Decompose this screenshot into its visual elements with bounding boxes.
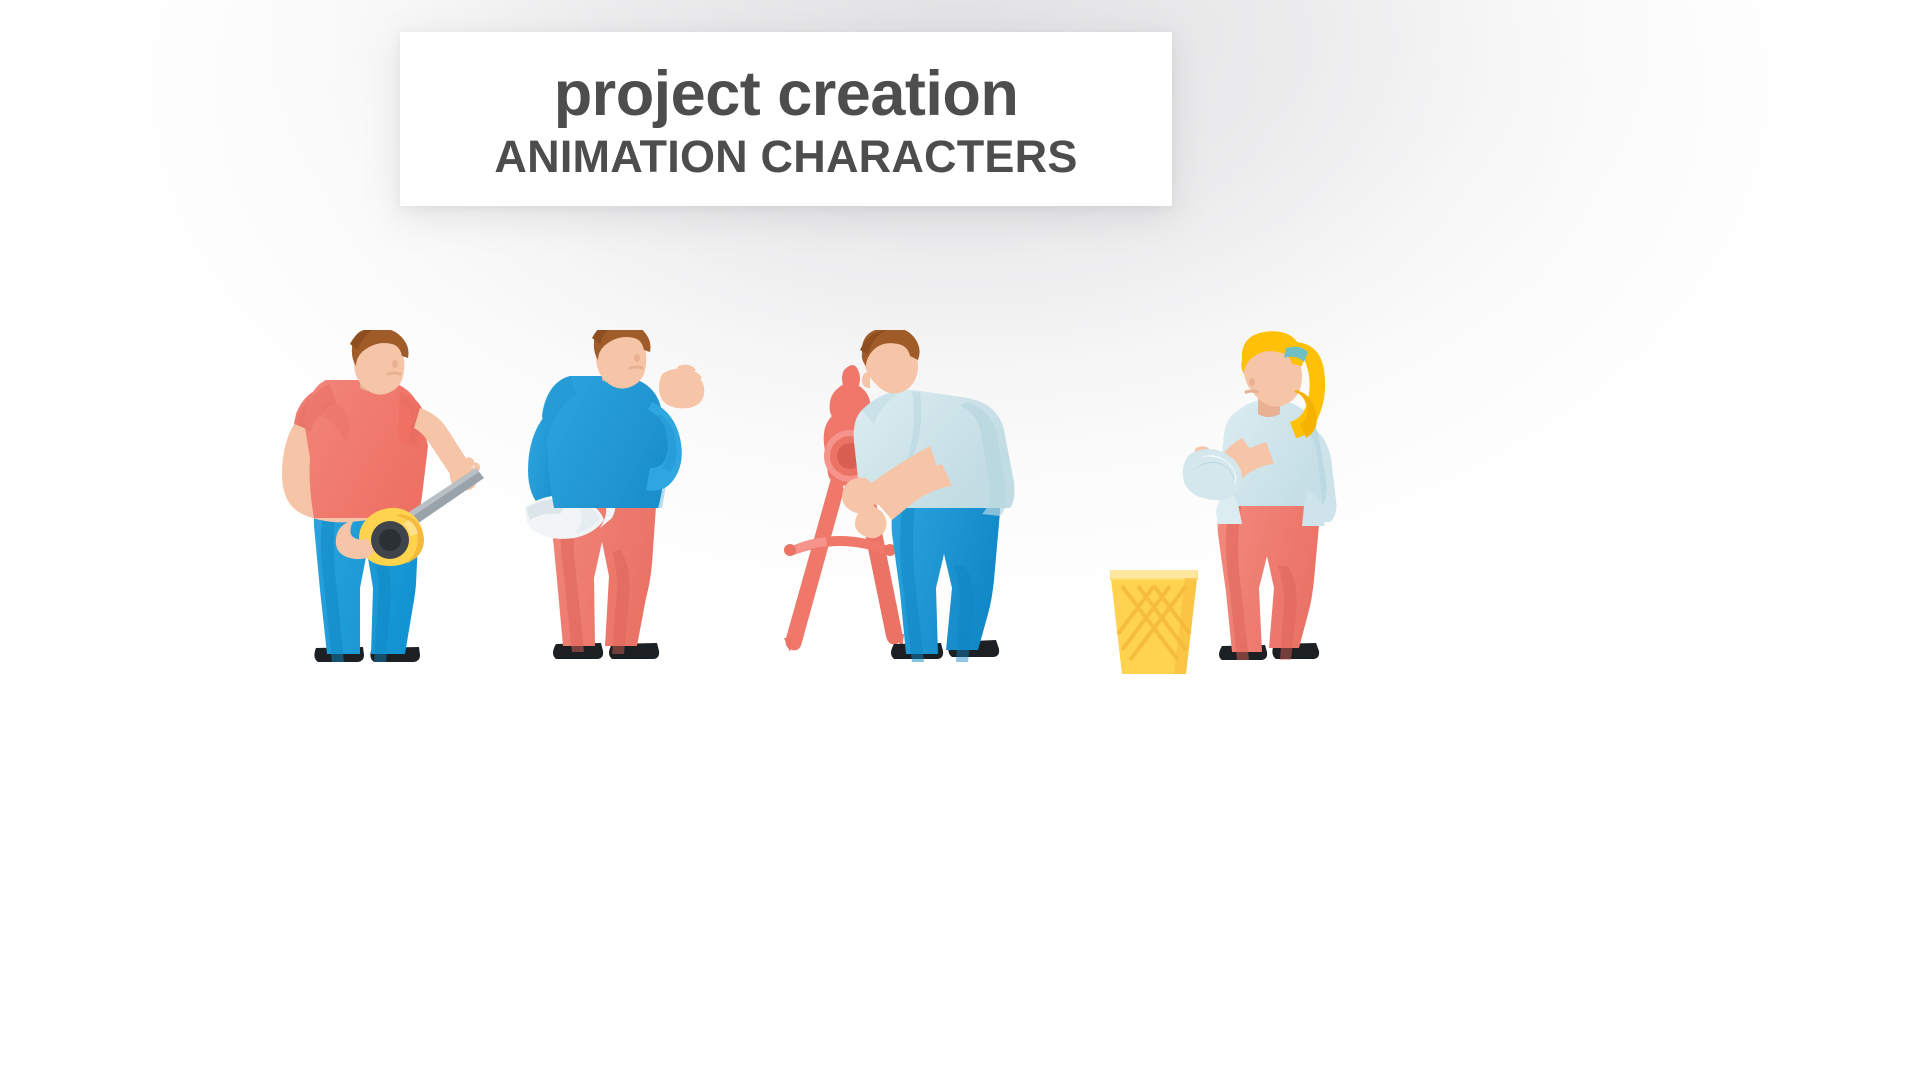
page-title: project creation	[554, 63, 1019, 126]
character-man-with-blueprints	[520, 330, 740, 730]
character-man-with-tape-measure	[280, 330, 510, 730]
wastebasket	[1110, 570, 1198, 674]
character-row	[0, 330, 1920, 730]
character-1-shirt	[294, 380, 428, 518]
page-subtitle: ANIMATION CHARACTERS	[494, 134, 1077, 179]
character-3-head	[860, 330, 920, 394]
character-woman-with-blueprint	[1090, 330, 1340, 730]
character-3-pants	[892, 498, 1000, 662]
title-card: project creation ANIMATION CHARACTERS	[400, 32, 1172, 206]
character-man-with-compass	[770, 330, 1030, 730]
illustration-slide: project creation ANIMATION CHARACTERS	[0, 0, 1920, 1080]
